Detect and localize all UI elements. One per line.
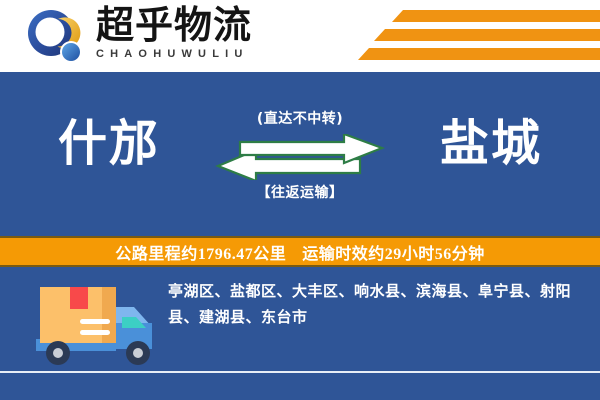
logistics-route-banner: 超乎物流 CHAOHUWULIU 什邡 (直达不中转) 【往返运输】 xyxy=(0,0,600,400)
bidirectional-arrow-icon xyxy=(210,134,390,180)
duration-label: 运输时效约29小时56分钟 xyxy=(302,240,485,264)
route-section: 什邡 (直达不中转) 【往返运输】 盐城 xyxy=(0,72,600,237)
brand-text: 超乎物流 CHAOHUWULIU xyxy=(96,4,366,68)
origin-city: 什邡 xyxy=(58,116,160,172)
circle-crescent-logo-icon xyxy=(26,9,84,65)
stripe-middle xyxy=(374,29,600,41)
bottom-divider xyxy=(0,371,600,373)
destination-city: 盐城 xyxy=(440,116,542,172)
stripe-top xyxy=(392,10,600,22)
direct-service-note: (直达不中转) xyxy=(205,108,395,128)
brand-name-en: CHAOHUWULIU xyxy=(96,47,366,61)
route-info-bar: 公路里程约1796.47公里 运输时效约29小时56分钟 xyxy=(0,236,600,267)
decorative-stripes xyxy=(360,6,600,66)
coverage-districts: 亭湖区、盐都区、大丰区、响水县、滨海县、阜宁县、射阳县、建湖县、东台市 xyxy=(168,279,580,331)
brand-header: 超乎物流 CHAOHUWULIU xyxy=(0,0,600,72)
stripe-bottom xyxy=(358,48,600,60)
brand-name-cn: 超乎物流 xyxy=(96,4,366,46)
distance-label: 公路里程约1796.47公里 xyxy=(115,240,286,264)
round-trip-note: 【往返运输】 xyxy=(205,182,395,202)
route-arrow-block: (直达不中转) 【往返运输】 xyxy=(205,108,395,218)
coverage-section: 亭湖区、盐都区、大丰区、响水县、滨海县、阜宁县、射阳县、建湖县、东台市 xyxy=(0,267,600,400)
delivery-truck-icon xyxy=(22,277,162,372)
